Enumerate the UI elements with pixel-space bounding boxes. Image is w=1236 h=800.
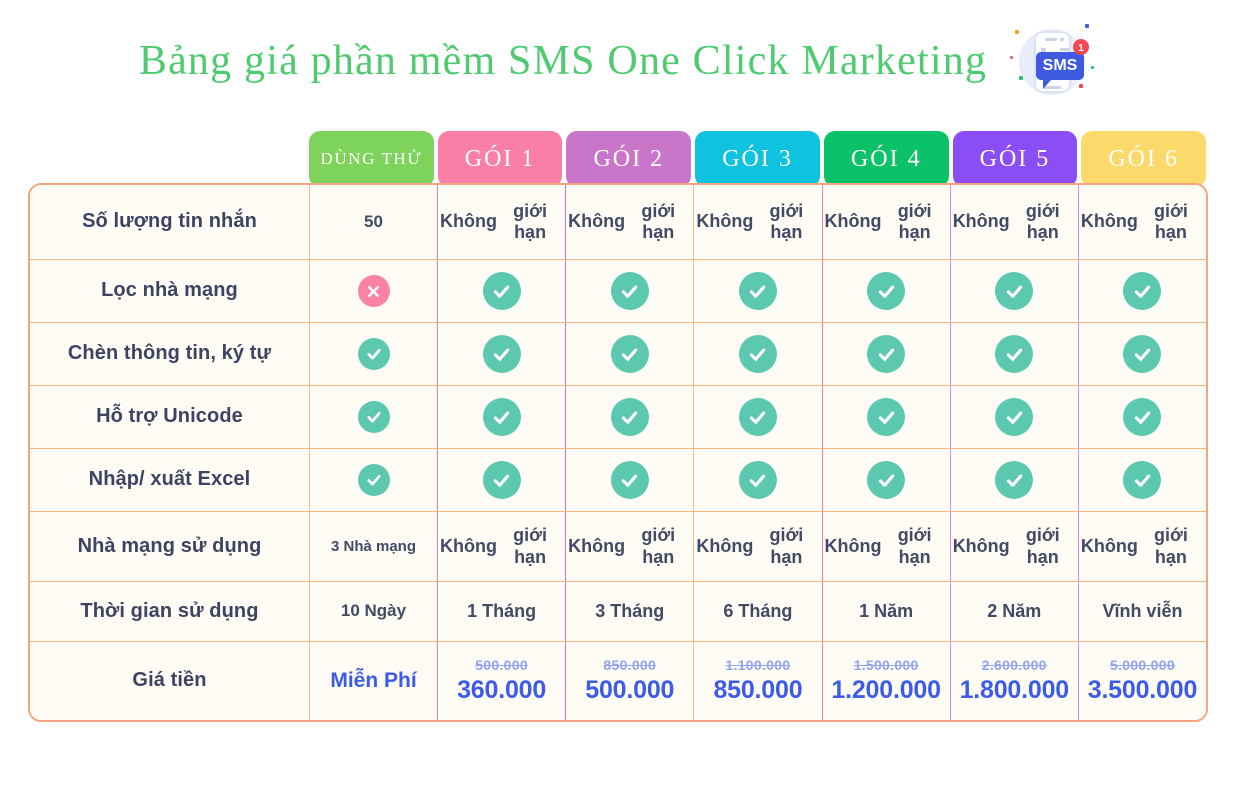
cell-text-line: giới hạn [1010, 525, 1076, 567]
cell-r7-p2: 3 Tháng [565, 582, 693, 641]
sms-app-icon-svg: SMS 1 [1005, 18, 1097, 104]
check-icon [1132, 470, 1153, 491]
check-icon [491, 281, 512, 302]
cell-text-line: Vĩnh viễn [1102, 601, 1182, 622]
check-badge [867, 272, 905, 310]
row-label-5: Nhập/ xuất Excel [30, 449, 309, 511]
cell-r7-p1: 1 Tháng [437, 582, 565, 641]
cell-text-line: giới hạn [882, 201, 948, 243]
cell-r1-p4: Khônggiới hạn [822, 185, 950, 259]
table-row: Chèn thông tin, ký tự [30, 323, 1206, 386]
price-current-value: 500.000 [585, 677, 674, 704]
cell-r5-p6 [1078, 449, 1206, 511]
cell-r8-p6: 5.000.0003.500.000 [1078, 642, 1206, 720]
price-old-value: 500.000 [475, 658, 528, 673]
cell-r2-p1 [437, 260, 565, 322]
cell-r1-p1: Khônggiới hạn [437, 185, 565, 259]
cell-r3-p5 [950, 323, 1078, 385]
check-icon [876, 344, 897, 365]
cell-r2-p3 [693, 260, 821, 322]
cell-r7-p5: 2 Năm [950, 582, 1078, 641]
price-block: Miễn Phí [330, 670, 416, 693]
cell-text-line: 1 Năm [859, 601, 913, 622]
column-header-p3[interactable]: GÓI 3 [695, 131, 820, 187]
check-badge [1123, 398, 1161, 436]
check-icon [1132, 407, 1153, 428]
svg-text:SMS: SMS [1043, 57, 1078, 74]
cell-r5-p4 [822, 449, 950, 511]
cell-r6-trial: 3 Nhà mạng [309, 512, 437, 581]
pricing-table: DÙNG THỬ GÓI 1 GÓI 2 GÓI 3 GÓI 4 GÓI 5 G… [28, 131, 1208, 711]
check-icon [747, 470, 768, 491]
sms-app-icon: SMS 1 [1005, 18, 1097, 104]
cell-r3-p6 [1078, 323, 1206, 385]
check-icon [1004, 407, 1025, 428]
cross-icon [365, 283, 382, 300]
price-current-value: 360.000 [457, 677, 546, 704]
price-current-value: 1.800.000 [960, 677, 1069, 704]
check-icon [747, 281, 768, 302]
row-label-6: Nhà mạng sử dụng [30, 512, 309, 581]
table-row: Lọc nhà mạng [30, 260, 1206, 323]
check-icon [747, 407, 768, 428]
cell-r5-p1 [437, 449, 565, 511]
svg-text:1: 1 [1078, 43, 1084, 54]
cell-text-line: Không [953, 211, 1010, 232]
cell-text-line: giới hạn [753, 525, 819, 567]
cell-text-line: giới hạn [1138, 525, 1204, 567]
cell-r4-p2 [565, 386, 693, 448]
check-badge [739, 335, 777, 373]
cell-r4-p4 [822, 386, 950, 448]
cell-r1-p6: Khônggiới hạn [1078, 185, 1206, 259]
column-header-p2[interactable]: GÓI 2 [566, 131, 691, 187]
cell-r1-p2: Khônggiới hạn [565, 185, 693, 259]
cell-r7-p6: Vĩnh viễn [1078, 582, 1206, 641]
check-badge [739, 272, 777, 310]
cell-text-line: 50 [364, 212, 383, 232]
check-badge [995, 461, 1033, 499]
check-badge [995, 398, 1033, 436]
check-icon [1004, 344, 1025, 365]
cell-text-line: Không [696, 536, 753, 557]
check-icon [365, 345, 383, 363]
cell-text-line: Không [696, 211, 753, 232]
column-header-trial-label: DÙNG THỬ [321, 149, 423, 169]
cell-text-line: giới hạn [497, 201, 563, 243]
cell-text-line: Không [440, 536, 497, 557]
check-badge [867, 335, 905, 373]
row-label-1: Số lượng tin nhắn [30, 185, 309, 259]
cell-text-line: giới hạn [625, 201, 691, 243]
check-badge [739, 461, 777, 499]
column-header-p5[interactable]: GÓI 5 [953, 131, 1078, 187]
check-icon [747, 344, 768, 365]
column-header-p3-label: GÓI 3 [722, 146, 793, 173]
cell-r6-p3: Khônggiới hạn [693, 512, 821, 581]
check-badge [611, 461, 649, 499]
cross-badge [358, 275, 390, 307]
cell-r7-p4: 1 Năm [822, 582, 950, 641]
table-row: Nhập/ xuất Excel [30, 449, 1206, 512]
price-old-value: 2.600.000 [982, 658, 1047, 673]
cell-r5-p5 [950, 449, 1078, 511]
check-icon [876, 470, 897, 491]
cell-r6-p6: Khônggiới hạn [1078, 512, 1206, 581]
row-label-7: Thời gian sử dụng [30, 582, 309, 641]
cell-r8-p3: 1.100.000850.000 [693, 642, 821, 720]
check-icon [491, 470, 512, 491]
check-icon [619, 281, 640, 302]
row-label-4: Hỗ trợ Unicode [30, 386, 309, 448]
table-row: Nhà mạng sử dụng3 Nhà mạngKhônggiới hạnK… [30, 512, 1206, 582]
table-row: Thời gian sử dụng10 Ngày1 Tháng3 Tháng6 … [30, 582, 1206, 642]
row-label-8: Giá tiền [30, 642, 309, 720]
check-badge [611, 335, 649, 373]
check-badge [358, 464, 390, 496]
cell-r1-trial: 50 [309, 185, 437, 259]
check-icon [876, 407, 897, 428]
cell-r4-p5 [950, 386, 1078, 448]
check-badge [611, 272, 649, 310]
check-badge [611, 398, 649, 436]
table-row: Số lượng tin nhắn50Khônggiới hạnKhônggiớ… [30, 185, 1206, 260]
cell-r3-p2 [565, 323, 693, 385]
check-icon [1004, 281, 1025, 302]
table-row: Giá tiềnMiễn Phí500.000360.000850.000500… [30, 642, 1206, 720]
column-header-p1[interactable]: GÓI 1 [438, 131, 563, 187]
cell-r7-trial: 10 Ngày [309, 582, 437, 641]
column-header-p6-label: GÓI 6 [1108, 146, 1179, 173]
row-label-3: Chèn thông tin, ký tự [30, 323, 309, 385]
cell-r3-p1 [437, 323, 565, 385]
check-icon [365, 408, 383, 426]
price-block: 2.600.0001.800.000 [960, 658, 1069, 703]
price-block: 5.000.0003.500.000 [1088, 658, 1197, 703]
price-block: 1.500.0001.200.000 [831, 658, 940, 703]
cell-r2-p2 [565, 260, 693, 322]
cell-r6-p5: Khônggiới hạn [950, 512, 1078, 581]
column-header-p1-label: GÓI 1 [465, 146, 536, 173]
cell-r8-p5: 2.600.0001.800.000 [950, 642, 1078, 720]
cell-r8-p4: 1.500.0001.200.000 [822, 642, 950, 720]
check-icon [619, 470, 640, 491]
column-header-p4[interactable]: GÓI 4 [824, 131, 949, 187]
cell-text-line: Không [568, 536, 625, 557]
cell-text-line: Không [1081, 536, 1138, 557]
column-header-p5-label: GÓI 5 [980, 146, 1051, 173]
cell-text-line: 10 Ngày [341, 601, 406, 621]
check-icon [1132, 281, 1153, 302]
cell-text-line: 3 Nhà mạng [331, 538, 416, 556]
price-block: 1.100.000850.000 [713, 658, 802, 703]
check-badge [483, 335, 521, 373]
cell-r2-trial [309, 260, 437, 322]
pricing-table-header-row: DÙNG THỬ GÓI 1 GÓI 2 GÓI 3 GÓI 4 GÓI 5 G… [28, 131, 1208, 187]
cell-text-line: Không [825, 211, 882, 232]
cell-r8-p1: 500.000360.000 [437, 642, 565, 720]
cell-text-line: Không [568, 211, 625, 232]
check-badge [739, 398, 777, 436]
cell-r4-p3 [693, 386, 821, 448]
check-badge [867, 461, 905, 499]
check-badge [1123, 461, 1161, 499]
cell-r1-p3: Khônggiới hạn [693, 185, 821, 259]
column-header-p6[interactable]: GÓI 6 [1081, 131, 1206, 187]
column-header-trial[interactable]: DÙNG THỬ [309, 131, 434, 187]
check-badge [1123, 272, 1161, 310]
price-old-value: 1.500.000 [854, 658, 919, 673]
check-badge [358, 338, 390, 370]
cell-r2-p6 [1078, 260, 1206, 322]
row-label-2: Lọc nhà mạng [30, 260, 309, 322]
cell-text-line: 3 Tháng [595, 601, 664, 622]
cell-r3-p4 [822, 323, 950, 385]
cell-r6-p4: Khônggiới hạn [822, 512, 950, 581]
price-old-value: 850.000 [603, 658, 656, 673]
cell-text-line: giới hạn [882, 525, 948, 567]
check-icon [365, 471, 383, 489]
price-current-value: 3.500.000 [1088, 677, 1197, 704]
cell-r4-trial [309, 386, 437, 448]
table-row: Hỗ trợ Unicode [30, 386, 1206, 449]
cell-r3-p3 [693, 323, 821, 385]
check-icon [1132, 344, 1153, 365]
cell-text-line: Không [825, 536, 882, 557]
cell-text-line: giới hạn [497, 525, 563, 567]
cell-r7-p3: 6 Tháng [693, 582, 821, 641]
check-badge [483, 272, 521, 310]
cell-r5-p2 [565, 449, 693, 511]
cell-r1-p5: Khônggiới hạn [950, 185, 1078, 259]
check-badge [1123, 335, 1161, 373]
cell-r6-p2: Khônggiới hạn [565, 512, 693, 581]
cell-r2-p4 [822, 260, 950, 322]
check-icon [876, 281, 897, 302]
cell-text-line: giới hạn [625, 525, 691, 567]
check-badge [867, 398, 905, 436]
cell-r6-p1: Khônggiới hạn [437, 512, 565, 581]
check-badge [995, 335, 1033, 373]
cell-r4-p6 [1078, 386, 1206, 448]
column-header-p4-label: GÓI 4 [851, 146, 922, 173]
check-badge [995, 272, 1033, 310]
check-badge [483, 398, 521, 436]
cell-text-line: 1 Tháng [467, 601, 536, 622]
price-block: 850.000500.000 [585, 658, 674, 703]
page-title: Bảng giá phần mềm SMS One Click Marketin… [139, 37, 987, 85]
price-free-label: Miễn Phí [330, 670, 416, 693]
cell-text-line: Không [1081, 211, 1138, 232]
page-header: Bảng giá phần mềm SMS One Click Marketin… [0, 22, 1236, 100]
price-current-value: 850.000 [713, 677, 802, 704]
check-icon [619, 344, 640, 365]
header-spacer [28, 131, 307, 187]
cell-text-line: giới hạn [1138, 201, 1204, 243]
check-icon [491, 407, 512, 428]
cell-r8-p2: 850.000500.000 [565, 642, 693, 720]
cell-text-line: 6 Tháng [723, 601, 792, 622]
cell-r8-trial: Miễn Phí [309, 642, 437, 720]
cell-text-line: giới hạn [753, 201, 819, 243]
cell-r5-trial [309, 449, 437, 511]
cell-r4-p1 [437, 386, 565, 448]
cell-text-line: Không [440, 211, 497, 232]
check-badge [358, 401, 390, 433]
check-icon [619, 407, 640, 428]
check-icon [491, 344, 512, 365]
cell-r5-p3 [693, 449, 821, 511]
cell-text-line: giới hạn [1010, 201, 1076, 243]
cell-text-line: 2 Năm [987, 601, 1041, 622]
price-old-value: 1.100.000 [725, 658, 790, 673]
cell-r3-trial [309, 323, 437, 385]
check-icon [1004, 470, 1025, 491]
cell-text-line: Không [953, 536, 1010, 557]
price-current-value: 1.200.000 [831, 677, 940, 704]
price-block: 500.000360.000 [457, 658, 546, 703]
price-old-value: 5.000.000 [1110, 658, 1175, 673]
column-header-p2-label: GÓI 2 [593, 146, 664, 173]
pricing-table-body: Số lượng tin nhắn50Khônggiới hạnKhônggiớ… [28, 183, 1208, 722]
cell-r2-p5 [950, 260, 1078, 322]
check-badge [483, 461, 521, 499]
